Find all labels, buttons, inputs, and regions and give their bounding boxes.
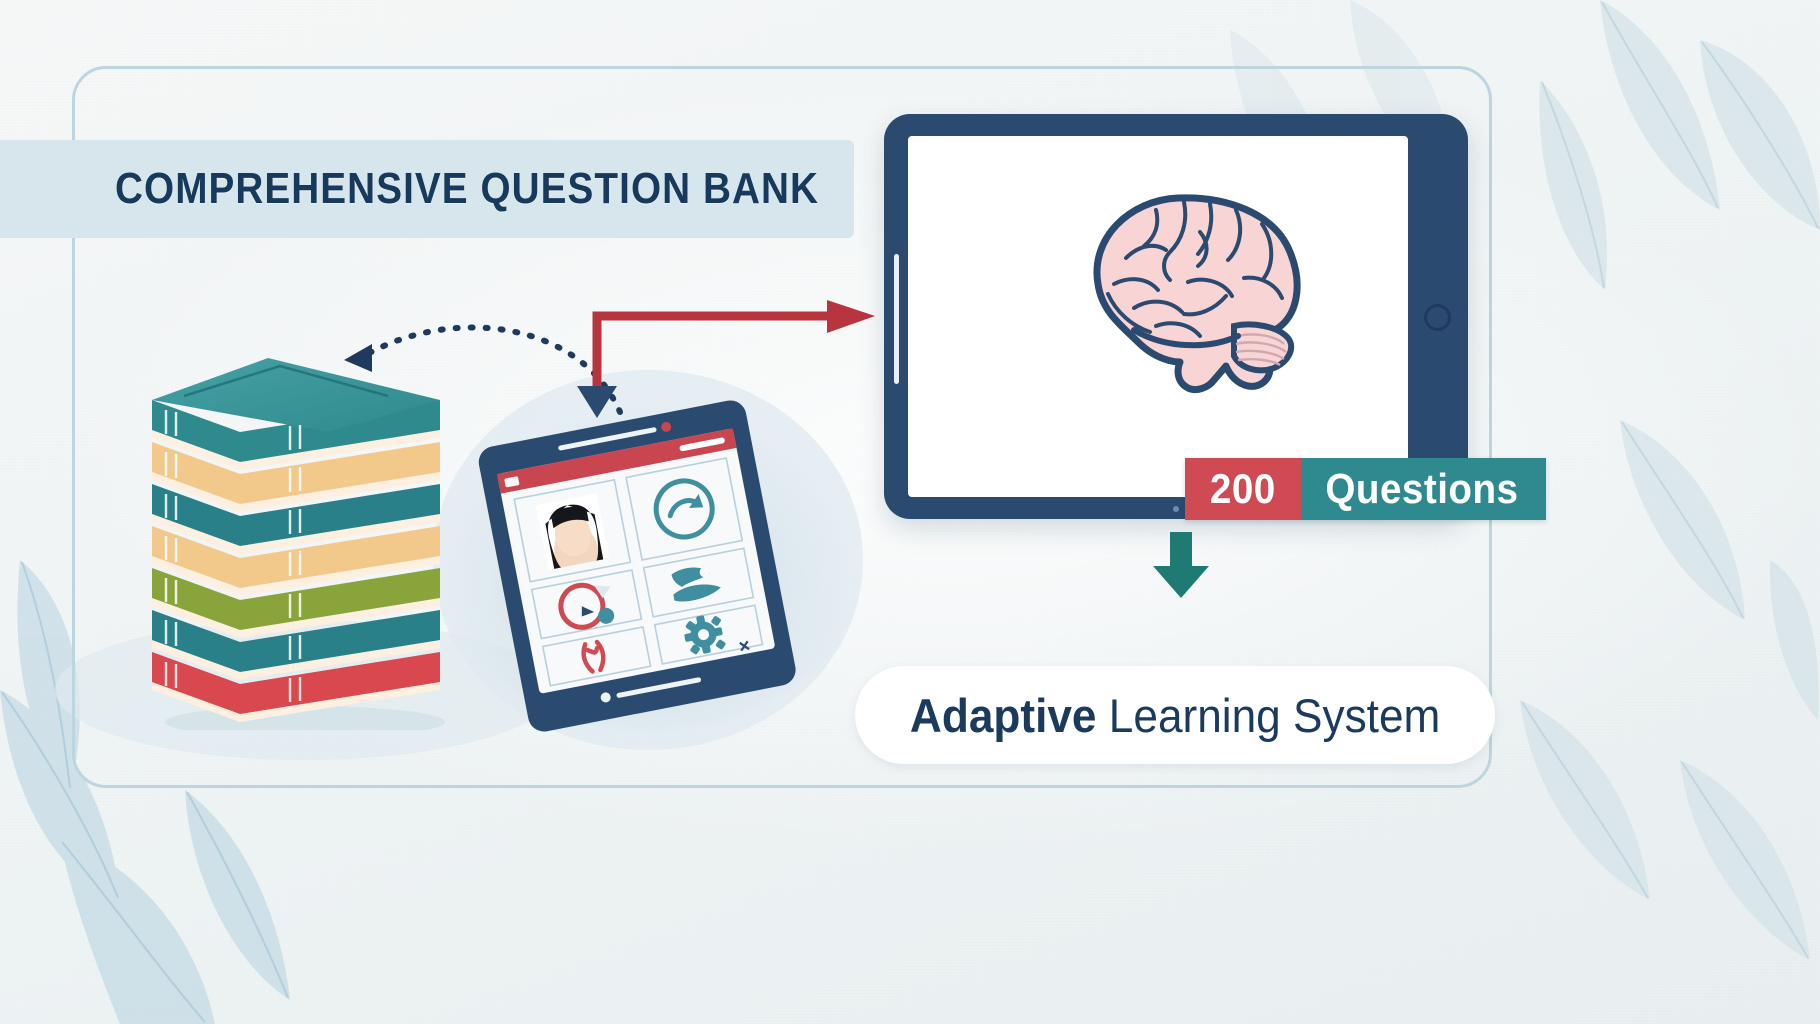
result-pill: Adaptive Learning System xyxy=(855,666,1495,764)
tablet-home-button[interactable] xyxy=(1424,304,1451,331)
page-title: COMPREHENSIVE QUESTION BANK xyxy=(115,164,819,214)
user-avatar-icon xyxy=(536,493,609,570)
result-regular: Learning System xyxy=(1109,689,1441,742)
result-bold: Adaptive xyxy=(910,689,1097,742)
status-badge: 200 Questions xyxy=(1185,458,1546,520)
badge-count-text: 200 xyxy=(1210,465,1276,513)
badge-label: Questions xyxy=(1301,458,1547,520)
tablet-screen xyxy=(908,136,1408,497)
tablet-camera-dot xyxy=(1173,506,1179,512)
title-banner: COMPREHENSIVE QUESTION BANK xyxy=(0,140,854,238)
badge-count: 200 xyxy=(1185,458,1301,520)
teal-down-arrow xyxy=(1152,532,1210,600)
tilted-tablet-app-grid[interactable] xyxy=(461,389,813,741)
infographic-canvas: COMPREHENSIVE QUESTION BANK xyxy=(0,0,1820,1024)
badge-label-text: Questions xyxy=(1325,465,1518,513)
tablet-volume-button[interactable] xyxy=(894,254,899,384)
human-brain-icon xyxy=(1038,166,1338,416)
result-text: Adaptive Learning System xyxy=(910,688,1440,743)
